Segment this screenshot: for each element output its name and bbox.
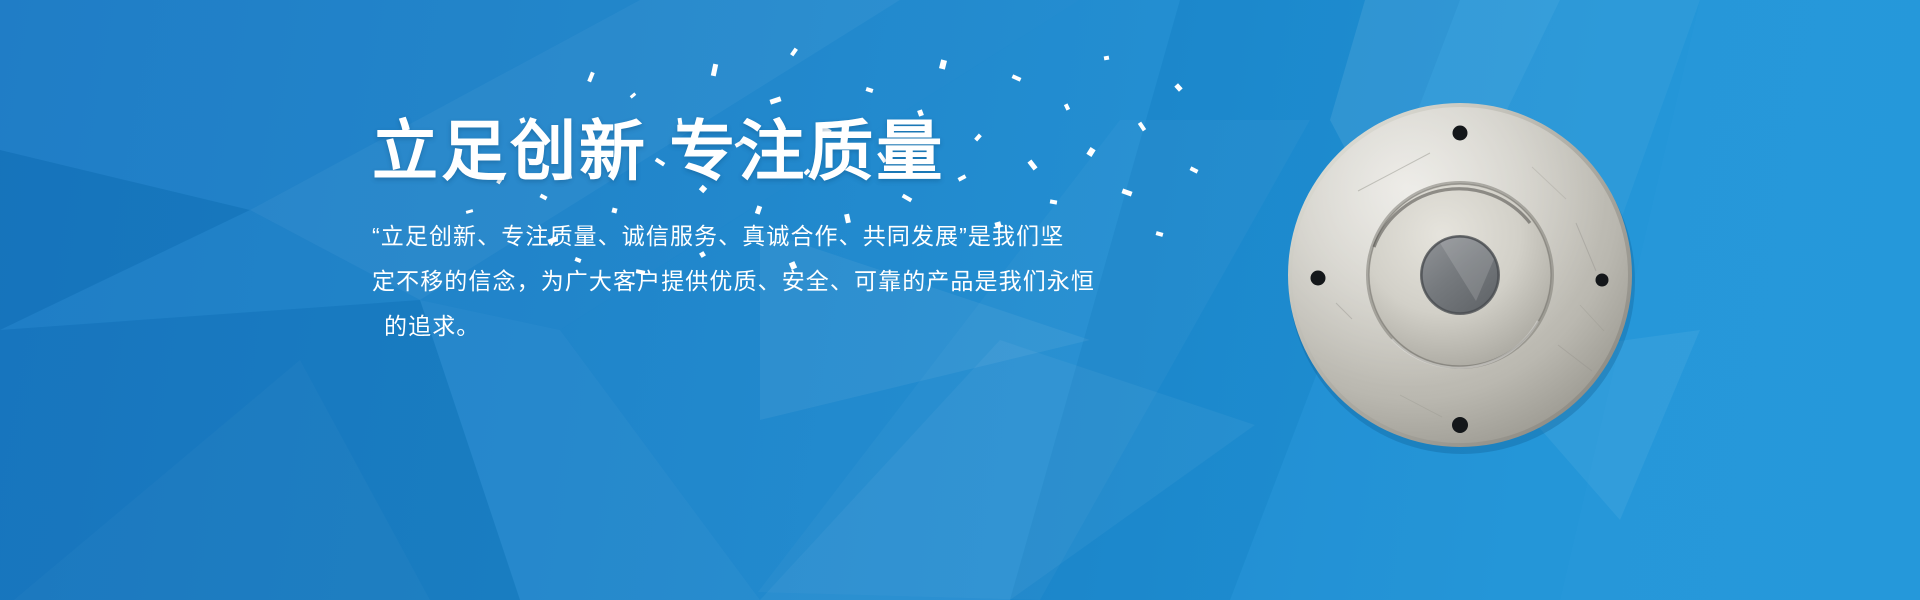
paragraph-line-2: 定不移的信念，为广大客户提供优质、安全、可靠的产品是我们永恒 xyxy=(372,259,1192,304)
paragraph-line-3: 的追求。 xyxy=(372,304,1192,349)
hero-banner: 立足创新 专注质量 “立足创新、专注质量、诚信服务、真诚合作、共同发展”是我们坚… xyxy=(0,0,1920,600)
banner-paragraph: “立足创新、专注质量、诚信服务、真诚合作、共同发展”是我们坚 定不移的信念，为广… xyxy=(372,214,1192,349)
banner-headline: 立足创新 专注质量 xyxy=(372,118,1192,184)
paragraph-line-1: “立足创新、专注质量、诚信服务、真诚合作、共同发展”是我们坚 xyxy=(372,214,1192,259)
banner-copy: 立足创新 专注质量 “立足创新、专注质量、诚信服务、真诚合作、共同发展”是我们坚… xyxy=(372,118,1192,349)
product-photo-flange xyxy=(1280,95,1640,455)
flange-disc-graphic xyxy=(1280,95,1640,455)
